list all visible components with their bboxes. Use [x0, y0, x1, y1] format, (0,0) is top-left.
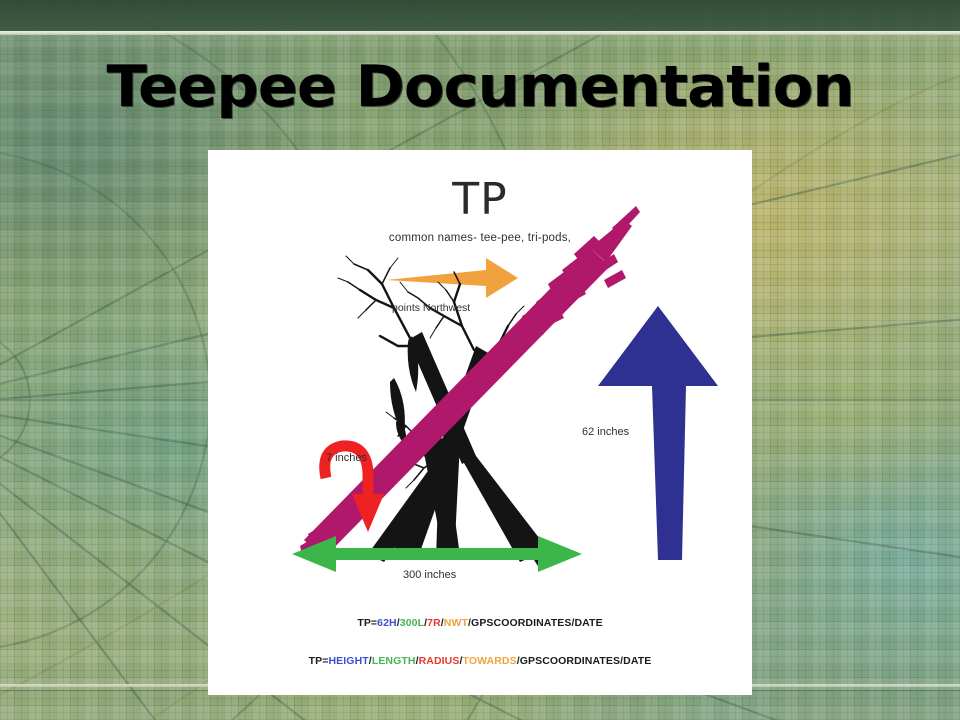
formula-part: NWT: [444, 617, 468, 629]
formula-example: TP=62H/300L/7R/NWT/GPSCOORDINATES/DATE: [208, 617, 752, 629]
formula-part: 7R: [427, 617, 441, 629]
formula-part: GPSCOORDINATES: [520, 655, 620, 667]
slide: Teepee Documentation TP common names- te…: [0, 0, 960, 720]
top-band: [0, 0, 960, 31]
diagram-panel: TP common names- tee-pee, tri-pods,: [208, 150, 752, 695]
formula-prefix: TP=: [357, 617, 377, 629]
diagram-canvas: TP common names- tee-pee, tri-pods,: [208, 150, 752, 695]
label-length: 300 inches: [403, 569, 456, 581]
formula-part: GPSCOORDINATES: [471, 617, 571, 629]
formula-prefix: TP=: [309, 655, 329, 667]
formula-legend: TP=HEIGHT/LENGTH/RADIUS/TOWARDS/GPSCOORD…: [208, 655, 752, 667]
pole-band: [300, 206, 640, 558]
label-radius: 7 inches: [326, 452, 367, 464]
formula-part: DATE: [623, 655, 651, 667]
page-title: Teepee Documentation: [0, 57, 960, 117]
formula-part: DATE: [574, 617, 602, 629]
formula-part: RADIUS: [419, 655, 460, 667]
formula-part: 62H: [377, 617, 397, 629]
formula-part: HEIGHT: [329, 655, 369, 667]
label-height: 62 inches: [582, 426, 629, 438]
formula-part: LENGTH: [372, 655, 416, 667]
label-points-northwest: points Northwest: [392, 302, 470, 314]
formula-part: TOWARDS: [463, 655, 517, 667]
top-divider-rule: [0, 31, 960, 35]
formula-part: 300L: [400, 617, 424, 629]
direction-arrow-shape: [386, 258, 518, 298]
